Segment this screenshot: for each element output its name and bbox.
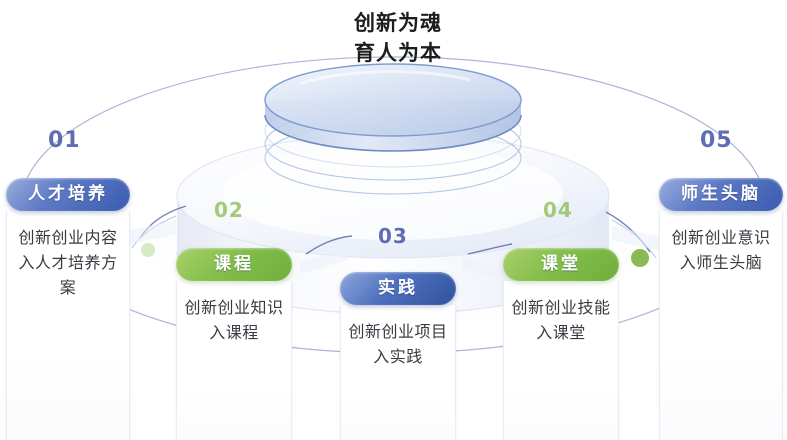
glass-disc: [265, 64, 521, 151]
step-column-03: 实践 创新创业项目入实践: [340, 272, 456, 440]
step-card-01: 创新创业内容入人才培养方案: [6, 211, 130, 440]
motto-line-2: 育人为本: [332, 38, 464, 68]
step-column-05: 师生头脑 创新创业意识入师生头脑: [659, 178, 783, 440]
step-description-03: 创新创业项目入实践: [347, 319, 449, 369]
step-card-02: 创新创业知识入课程: [176, 281, 292, 440]
step-description-02: 创新创业知识入课程: [183, 295, 285, 345]
connector-node: [141, 243, 155, 257]
step-column-02: 课程 创新创业知识入课程: [176, 248, 292, 440]
step-card-04: 创新创业技能入课堂: [503, 281, 619, 440]
step-description-04: 创新创业技能入课堂: [510, 295, 612, 345]
step-badge-03[interactable]: 实践: [340, 272, 456, 305]
step-badge-02[interactable]: 课程: [176, 248, 292, 281]
step-number-04: 04: [543, 198, 573, 222]
motto-line-1: 创新为魂: [332, 8, 464, 38]
connector-node: [631, 249, 649, 267]
step-number-05: 05: [700, 128, 733, 153]
step-number-02: 02: [214, 198, 244, 222]
step-badge-04[interactable]: 课堂: [503, 248, 619, 281]
step-description-01: 创新创业内容入人才培养方案: [13, 225, 123, 300]
infographic-canvas: 创新为魂 育人为本 01 02 03 04 05 人才培养 创新创业内容入人才培…: [0, 0, 787, 440]
step-column-04: 课堂 创新创业技能入课堂: [503, 248, 619, 440]
step-card-05: 创新创业意识入师生头脑: [659, 211, 783, 440]
center-motto: 创新为魂 育人为本: [332, 8, 464, 68]
step-number-03: 03: [378, 224, 408, 248]
step-number-01: 01: [48, 128, 81, 153]
step-card-03: 创新创业项目入实践: [340, 305, 456, 440]
glass-ring-stack: [265, 95, 521, 194]
step-description-05: 创新创业意识入师生头脑: [666, 225, 776, 275]
step-column-01: 人才培养 创新创业内容入人才培养方案: [6, 178, 130, 440]
step-badge-05[interactable]: 师生头脑: [659, 178, 783, 211]
step-badge-01[interactable]: 人才培养: [6, 178, 130, 211]
